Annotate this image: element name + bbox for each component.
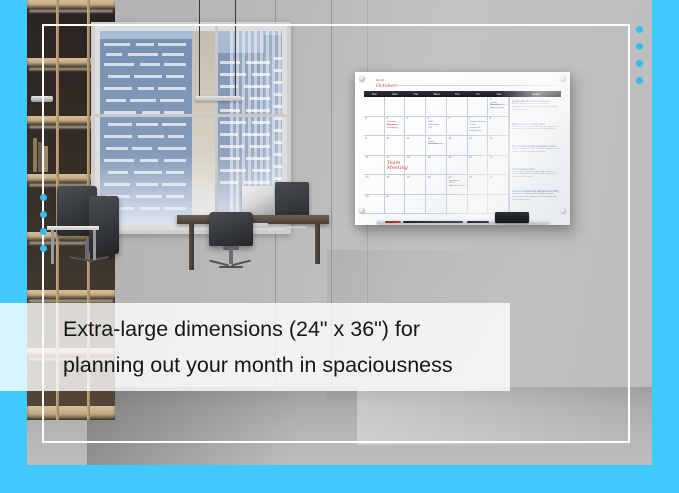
calendar-day-cell bbox=[468, 195, 489, 215]
calendar-day-cell bbox=[405, 97, 426, 117]
calendar-day-cell: 24 bbox=[385, 175, 406, 195]
calendar-event: Administration bbox=[490, 107, 507, 110]
calendar-day-cell: 26 bbox=[426, 175, 447, 195]
office-chair-front bbox=[209, 212, 253, 246]
calendar-day-number: 20 bbox=[448, 156, 451, 159]
glass-dry-erase-calendar-board: Month October SunMonTueWedThuFriSatNotes… bbox=[355, 72, 570, 225]
carousel-dot-left-4[interactable] bbox=[40, 245, 47, 252]
calendar-day-cell: 25 bbox=[405, 175, 426, 195]
calendar-day-number: 19 bbox=[428, 156, 431, 159]
calendar-day-cell: 21 bbox=[468, 156, 489, 176]
calendar-day-cell: 31 bbox=[385, 195, 406, 215]
calendar-day-cell: 4 bbox=[405, 117, 426, 137]
calendar-day-cell: 6 bbox=[447, 117, 468, 137]
product-feature-card: Month October SunMonTueWedThuFriSatNotes… bbox=[0, 0, 679, 493]
calendar-day-number: 22 bbox=[490, 156, 493, 159]
calendar-day-number: 28 bbox=[469, 176, 472, 179]
calendar-day-number: 15 bbox=[490, 137, 493, 140]
calendar-day-number: 29 bbox=[490, 176, 493, 179]
calendar-day-cell: 13 bbox=[447, 136, 468, 156]
calendar-day-cell bbox=[447, 195, 468, 215]
carousel-dot-right-2[interactable] bbox=[636, 43, 643, 50]
calendar-day-cell: 20 bbox=[447, 156, 468, 176]
calendar-event: Prototyping bbox=[387, 127, 404, 130]
calendar-day-number: 11 bbox=[407, 137, 410, 140]
carousel-dot-left-1[interactable] bbox=[40, 194, 47, 201]
black-marker-2 bbox=[467, 221, 489, 223]
calendar-event: Liquid and Compliance bbox=[470, 127, 487, 133]
calendar-day-number: 3 bbox=[386, 117, 387, 120]
calendar-day-number: 7 bbox=[469, 117, 470, 120]
calendar-notes-column: Product Planning and DevelopmentDiscuss … bbox=[509, 97, 561, 214]
calendar-event: 9-11 bbox=[428, 127, 445, 130]
carousel-dots-left[interactable] bbox=[40, 194, 47, 252]
calendar-event: Software Service bbox=[449, 185, 466, 188]
calendar-note-body: Ensure compliance with workplace regulat… bbox=[512, 148, 560, 153]
caption-line-2: planning out your month in spaciousness bbox=[63, 347, 510, 383]
black-marker bbox=[403, 221, 463, 223]
calendar-day-cell: 1Quality AssuranceCommunicationAdministr… bbox=[488, 97, 509, 117]
calendar-day-cell: 27OperationsR & DSoftware Service bbox=[447, 175, 468, 195]
calendar-day-cell: 18 bbox=[405, 156, 426, 176]
calendar-note-body: Discuss all long-term thinking, business… bbox=[512, 103, 560, 111]
calendar-day-number: 16 bbox=[366, 156, 369, 159]
calendar-day-number: 18 bbox=[407, 156, 410, 159]
calendar-grid: 1Quality AssuranceCommunicationAdministr… bbox=[364, 97, 561, 211]
calendar-note-body: Systems of handling and coordinating dri… bbox=[512, 193, 560, 201]
calendar-day-cell: 29 bbox=[488, 175, 509, 195]
calendar-day-cell: 11 bbox=[405, 136, 426, 156]
calendar-day-cell: 16 bbox=[364, 156, 385, 176]
calendar-day-cell bbox=[364, 97, 385, 117]
calendar-day-cell: 9 bbox=[364, 136, 385, 156]
calendar-day-cell: 30 bbox=[364, 195, 385, 215]
calendar-day-cell: 2 bbox=[364, 117, 385, 137]
whiteboard-month-label: Month bbox=[376, 79, 384, 82]
calendar-day-cell bbox=[426, 195, 447, 215]
calendar-day-number: 23 bbox=[366, 176, 369, 179]
calendar-note-body: Manage the sourcing, purchasing, and log… bbox=[512, 126, 560, 131]
whiteboard-month-value: October bbox=[376, 83, 396, 89]
calendar-day-cell: 10 bbox=[385, 136, 406, 156]
calendar-day-number: 14 bbox=[469, 137, 472, 140]
calendar-day-number: 13 bbox=[448, 137, 451, 140]
carousel-dot-left-3[interactable] bbox=[40, 228, 47, 235]
carousel-dot-right-3[interactable] bbox=[636, 60, 643, 67]
calendar-day-cell bbox=[447, 97, 468, 117]
calendar-day-number: 6 bbox=[448, 117, 449, 120]
calendar-event: Communication bbox=[428, 143, 445, 146]
calendar-day-cell: 5StaffOrientation9-11 bbox=[426, 117, 447, 137]
calendar-day-cell bbox=[468, 97, 489, 117]
calendar-day-number: 24 bbox=[386, 176, 389, 179]
caption-overlay: Extra-large dimensions (24" x 36") for p… bbox=[0, 303, 510, 391]
carousel-dot-right-4[interactable] bbox=[636, 77, 643, 84]
calendar-day-cell: 7Software ServiceR & DLiquid and Complia… bbox=[468, 117, 489, 137]
calendar-day-number: 4 bbox=[407, 117, 408, 120]
calendar-day-number: 31 bbox=[386, 195, 389, 198]
calendar-day-cell: 17TeamMeeting bbox=[385, 156, 406, 176]
calendar-day-cell: 8 bbox=[488, 117, 509, 137]
calendar-day-cell bbox=[405, 195, 426, 215]
board-eraser bbox=[495, 212, 529, 223]
calendar-day-number: 27 bbox=[448, 176, 451, 179]
calendar-day-number: 1 bbox=[490, 98, 491, 101]
desk-monitor-right bbox=[275, 182, 309, 218]
product-lifestyle-photo: Month October SunMonTueWedThuFriSatNotes… bbox=[27, 0, 652, 465]
calendar-day-cell: 23 bbox=[364, 175, 385, 195]
calendar-day-number: 10 bbox=[386, 137, 389, 140]
calendar-day-number: 26 bbox=[428, 176, 431, 179]
calendar-day-cell: 22 bbox=[488, 156, 509, 176]
calendar-day-number: 25 bbox=[407, 176, 410, 179]
calendar-day-number: 21 bbox=[469, 156, 472, 159]
calendar-day-cell: 15 bbox=[488, 136, 509, 156]
calendar-day-cell: 28 bbox=[468, 175, 489, 195]
calendar-day-number: 2 bbox=[366, 117, 367, 120]
calendar-day-cell bbox=[426, 97, 447, 117]
calendar-day-number: 5 bbox=[428, 117, 429, 120]
carousel-dot-left-2[interactable] bbox=[40, 211, 47, 218]
calendar-day-cell: 14 bbox=[468, 136, 489, 156]
calendar-day-cell: 19 bbox=[426, 156, 447, 176]
calendar-day-number: 30 bbox=[366, 195, 369, 198]
calendar-day-number: 8 bbox=[490, 117, 491, 120]
calendar-day-number: 17 bbox=[386, 156, 389, 159]
carousel-dots-right[interactable] bbox=[636, 26, 643, 84]
calendar-note-body: Manage the company's relationships with … bbox=[512, 171, 560, 179]
carousel-dot-right-1[interactable] bbox=[636, 26, 643, 33]
calendar-day-cell: 3Customer AssessmentPresentsPrototyping bbox=[385, 117, 406, 137]
calendar-day-cell: 12Quality AssuranceCommunication bbox=[426, 136, 447, 156]
red-marker bbox=[385, 221, 401, 223]
calendar-day-number: 9 bbox=[366, 137, 367, 140]
calendar-day-number: 12 bbox=[428, 137, 431, 140]
caption-line-1: Extra-large dimensions (24" x 36") for bbox=[63, 311, 510, 347]
calendar-day-cell bbox=[385, 97, 406, 117]
